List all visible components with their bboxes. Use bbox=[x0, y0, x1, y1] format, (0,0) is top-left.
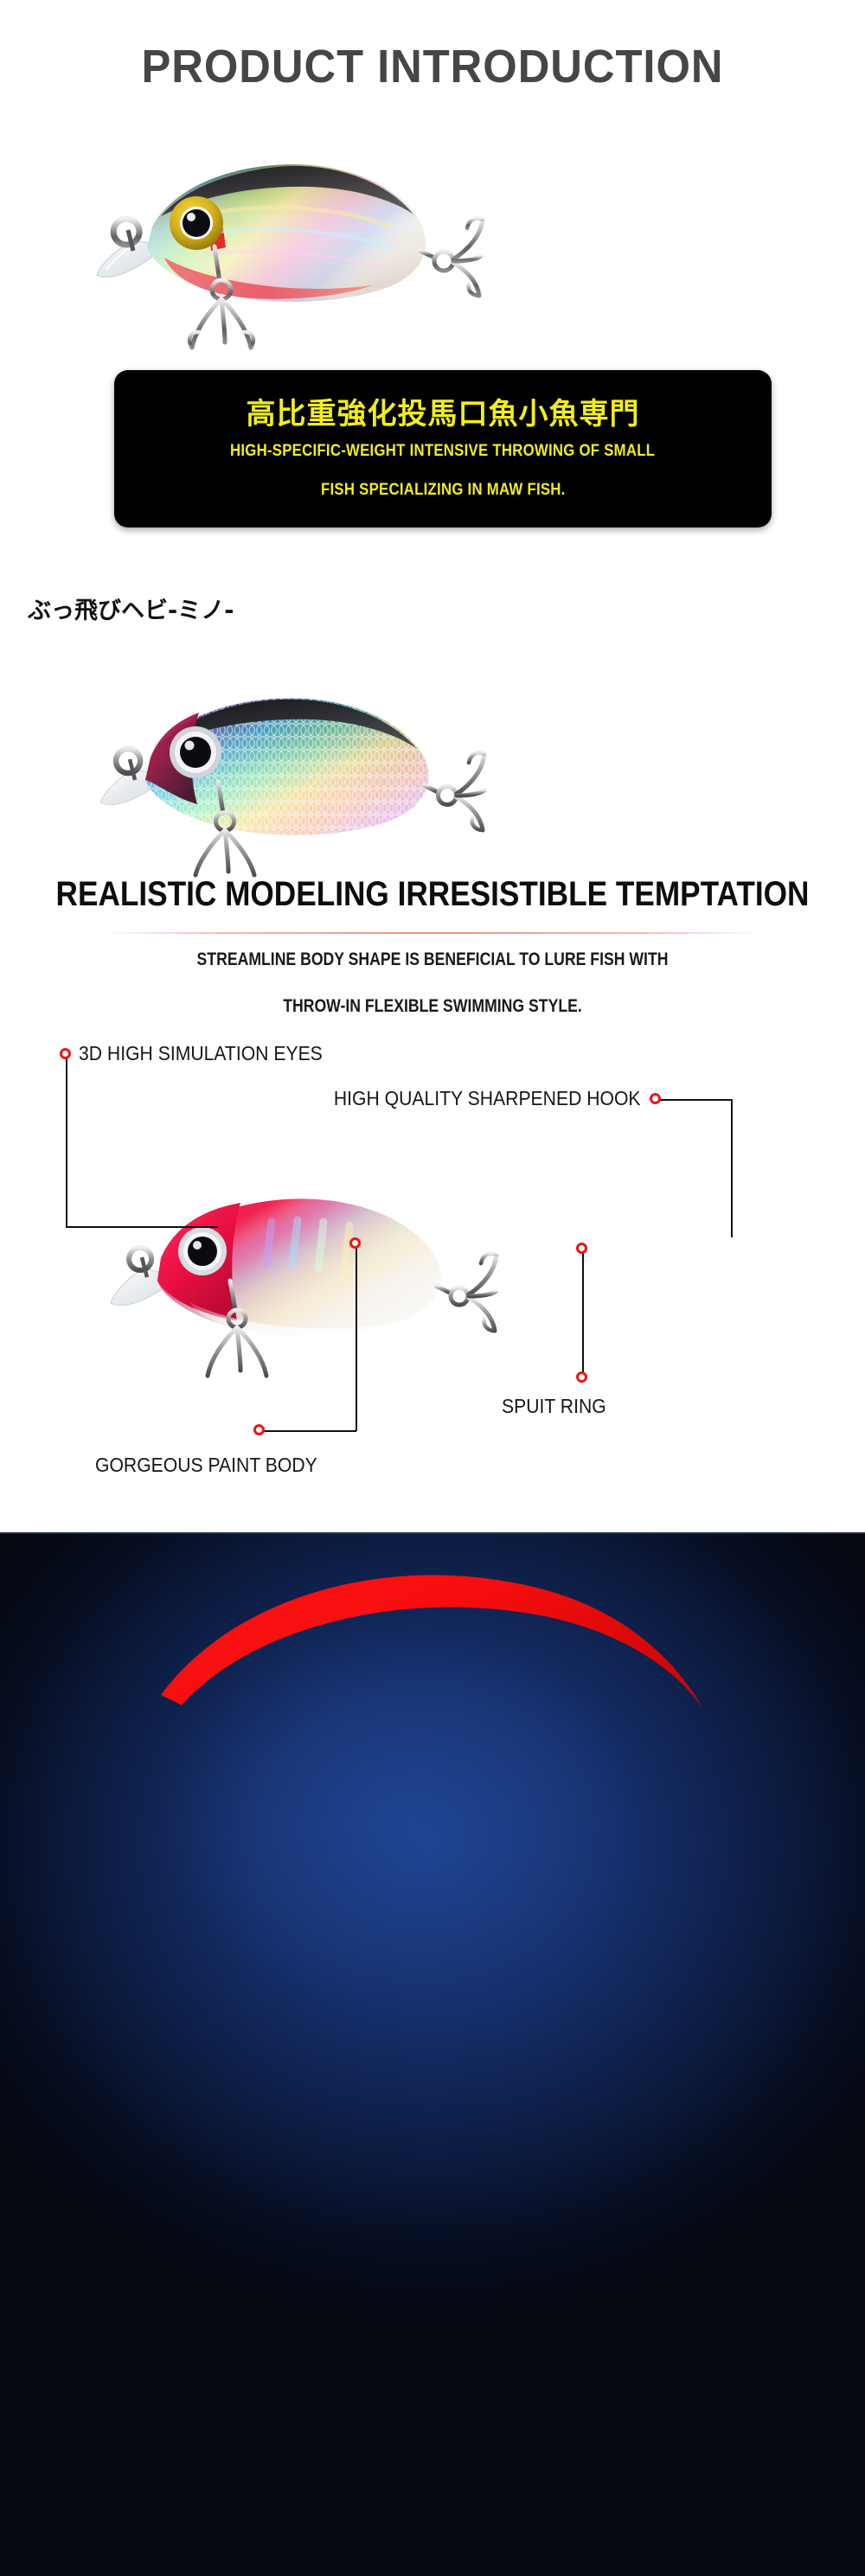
leader-line-ring-vertical bbox=[582, 1248, 584, 1377]
modeling-subtext-line-2: THROW-IN FLEXIBLE SWIMMING STYLE. bbox=[69, 996, 796, 1017]
promo-headline-cjk: 高比重強化投馬口魚小魚専門 bbox=[247, 400, 640, 429]
promo-subline-2: FISH SPECIALIZING IN MAW FISH. bbox=[321, 482, 566, 499]
promo-banner: 高比重強化投馬口魚小魚専門 HIGH-SPECIFIC-WEIGHT INTEN… bbox=[114, 370, 772, 527]
callout-dot-eyes bbox=[60, 1048, 71, 1059]
leader-line-hook-horizontal bbox=[656, 1099, 732, 1101]
streamline-arc-graphic bbox=[130, 1556, 822, 1859]
heading-divider bbox=[104, 932, 761, 934]
promo-subline-1: HIGH-SPECIFIC-WEIGHT INTENSIVE THROWING … bbox=[230, 443, 655, 460]
modeling-subtext-line-1: STREAMLINE BODY SHAPE IS BENEFICIAL TO L… bbox=[69, 949, 796, 970]
modeling-heading: REALISTIC MODELING IRRESISTIBLE TEMPTATI… bbox=[52, 875, 813, 914]
callout-dot-hook bbox=[650, 1093, 661, 1104]
dark-showcase-section: STANDARD STREAMLINE SHAPE bbox=[0, 1532, 865, 2576]
leader-line-paint-horizontal bbox=[259, 1430, 356, 1432]
feature-callout-diagram: 3D HIGH SIMULATION EYES HIGH QUALITY SHA… bbox=[0, 1033, 865, 1518]
product-image-holographic-lure bbox=[86, 659, 493, 875]
callout-dot-paint-label bbox=[253, 1424, 265, 1435]
hero-section: PRODUCT INTRODUCTION bbox=[0, 0, 865, 1532]
callout-label-eyes: 3D HIGH SIMULATION EYES bbox=[79, 1042, 323, 1065]
leader-line-eyes-horizontal bbox=[66, 1226, 218, 1228]
callout-label-paint: GORGEOUS PAINT BODY bbox=[95, 1454, 317, 1477]
leader-line-paint-vertical bbox=[356, 1243, 357, 1431]
section-divider bbox=[0, 1532, 865, 1534]
product-name-japanese: ぶっ飛びヘビ-ミノ- bbox=[28, 591, 234, 625]
callout-dot-ring-anchor bbox=[576, 1243, 587, 1254]
callout-dot-ring bbox=[576, 1371, 587, 1383]
leader-line-eyes-vertical bbox=[66, 1054, 67, 1227]
product-image-red-lure bbox=[102, 1165, 509, 1381]
callout-label-ring: SPUIT RING bbox=[502, 1395, 606, 1418]
callout-dot-paint bbox=[349, 1237, 361, 1249]
callout-label-hook: HIGH QUALITY SHARPENED HOOK bbox=[334, 1087, 641, 1110]
page-title: PRODUCT INTRODUCTION bbox=[26, 40, 839, 93]
leader-line-hook-vertical bbox=[731, 1099, 733, 1237]
product-image-silver-lure bbox=[78, 112, 484, 363]
split-ring bbox=[451, 1288, 468, 1305]
